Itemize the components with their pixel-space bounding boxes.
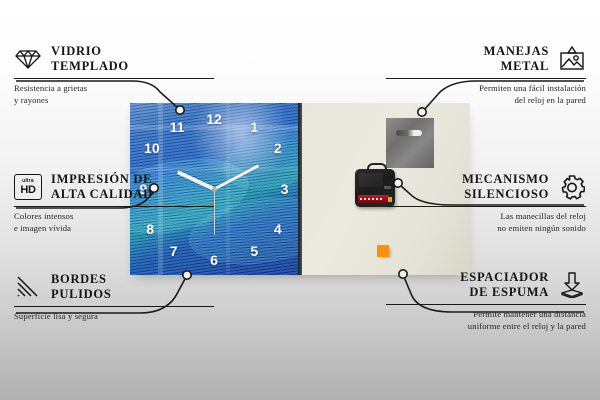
clock-numeral-3: 3 — [281, 182, 289, 196]
callout-subtitle-line1: Las manecillas del reloj — [501, 211, 586, 221]
callout-subtitle: Colores intensos e imagen vívida — [14, 211, 214, 235]
hanger-slot — [396, 130, 422, 136]
callout-divider — [386, 304, 586, 305]
callout-manejas-metal: MANEJAS METAL Permiten una fácil instala… — [386, 44, 586, 107]
callout-subtitle: Permiten una fácil instalación del reloj… — [386, 83, 586, 107]
callout-title-line1: VIDRIO — [51, 44, 102, 58]
callout-header: BORDES PULIDOS — [14, 272, 214, 303]
callout-subtitle: Superficie lisa y segura — [14, 311, 214, 323]
callout-title-line1: BORDES — [51, 272, 107, 286]
foam-spacer-pad — [377, 245, 389, 257]
callout-divider — [386, 206, 586, 207]
battery-label-stripe — [360, 198, 382, 200]
clock-numeral-11: 11 — [170, 120, 185, 134]
callout-subtitle-line2: no emiten ningún sonido — [497, 223, 586, 233]
clock-numeral-6: 6 — [210, 253, 218, 267]
callout-subtitle: Permite mantener una distancia uniforme … — [386, 309, 586, 333]
callout-title-line2: ALTA CALIDAD — [51, 187, 153, 201]
callout-header: ultra HD IMPRESIÓN DE ALTA CALIDAD — [14, 172, 214, 203]
callout-subtitle-line2: e imagen vívida — [14, 223, 71, 233]
callout-subtitle-line2: y rayones — [14, 95, 49, 105]
metal-hanger-plate — [386, 118, 434, 168]
callout-title: MANEJAS METAL — [484, 44, 549, 75]
hd-badge-small-text: ultra — [22, 179, 34, 184]
callout-bordes-pulidos: BORDES PULIDOS Superficie lisa y segura — [14, 272, 214, 323]
callout-header: MANEJAS METAL — [386, 44, 586, 75]
clock-numeral-4: 4 — [274, 222, 282, 236]
callout-divider — [14, 306, 214, 307]
callout-title: ESPACIADOR DE ESPUMA — [460, 270, 549, 301]
mechanism-label — [359, 173, 383, 187]
callout-title: IMPRESIÓN DE ALTA CALIDAD — [51, 172, 153, 203]
callout-title-line1: MANEJAS — [484, 44, 549, 58]
callout-title: MECANISMO SILENCIOSO — [462, 172, 549, 203]
callout-subtitle-line2: uniforme entre el reloj y la pared — [468, 321, 586, 331]
callout-header: ESPACIADOR DE ESPUMA — [386, 270, 586, 301]
callout-title: VIDRIO TEMPLADO — [51, 44, 129, 75]
callout-header: VIDRIO TEMPLADO — [14, 44, 214, 75]
callout-subtitle-line2: del reloj en la pared — [515, 95, 586, 105]
callout-vidrio-templado: VIDRIO TEMPLADO Resistencia a grietas y … — [14, 44, 214, 107]
callout-header: MECANISMO SILENCIOSO — [386, 172, 586, 203]
callout-divider — [386, 78, 586, 79]
callout-espaciador-espuma: ESPACIADOR DE ESPUMA Permite mantener un… — [386, 270, 586, 333]
callout-subtitle-line1: Resistencia a grietas — [14, 83, 87, 93]
ultra-hd-badge-icon: ultra HD — [14, 173, 42, 201]
battery — [358, 195, 389, 204]
callout-subtitle: Las manecillas del reloj no emiten ningú… — [386, 211, 586, 235]
callout-subtitle-line1: Superficie lisa y segura — [14, 311, 98, 321]
callout-title: BORDES PULIDOS — [51, 272, 111, 303]
hd-badge-big-text: HD — [20, 185, 35, 196]
callout-title-line2: PULIDOS — [51, 287, 111, 301]
callout-title-line1: IMPRESIÓN DE — [51, 172, 152, 186]
callout-divider — [14, 206, 214, 207]
callout-subtitle: Resistencia a grietas y rayones — [14, 83, 214, 107]
clock-numeral-5: 5 — [250, 244, 258, 258]
callout-title-line2: SILENCIOSO — [464, 187, 549, 201]
callout-subtitle-line1: Permite mantener una distancia — [473, 309, 586, 319]
clock-numeral-2: 2 — [274, 141, 282, 155]
polished-edge-icon — [14, 273, 42, 301]
wall-hanging-frame-icon — [558, 45, 586, 73]
clock-numeral-7: 7 — [170, 244, 178, 258]
diamond-icon — [14, 45, 42, 73]
callout-subtitle-line1: Colores intensos — [14, 211, 73, 221]
callout-title-line2: DE ESPUMA — [469, 285, 549, 299]
callout-title-line1: ESPACIADOR — [460, 270, 549, 284]
callout-title-line2: TEMPLADO — [51, 59, 129, 73]
callout-divider — [14, 78, 214, 79]
foam-spacer-arrow-icon — [558, 271, 586, 299]
gear-icon — [558, 173, 586, 201]
clock-numeral-12: 12 — [206, 112, 222, 126]
clock-numeral-1: 1 — [250, 120, 258, 134]
clock-numeral-10: 10 — [144, 141, 160, 155]
hd-badge: ultra HD — [14, 174, 42, 200]
callout-mecanismo-silencioso: MECANISMO SILENCIOSO Las manecillas del … — [386, 172, 586, 235]
callout-title-line1: MECANISMO — [462, 172, 549, 186]
callout-impresion-alta-calidad: ultra HD IMPRESIÓN DE ALTA CALIDAD Color… — [14, 172, 214, 235]
callout-subtitle-line1: Permiten una fácil instalación — [479, 83, 586, 93]
infographic-canvas: 12 1 2 3 4 5 6 7 8 9 10 11 — [0, 0, 600, 400]
callout-title-line2: METAL — [501, 59, 549, 73]
